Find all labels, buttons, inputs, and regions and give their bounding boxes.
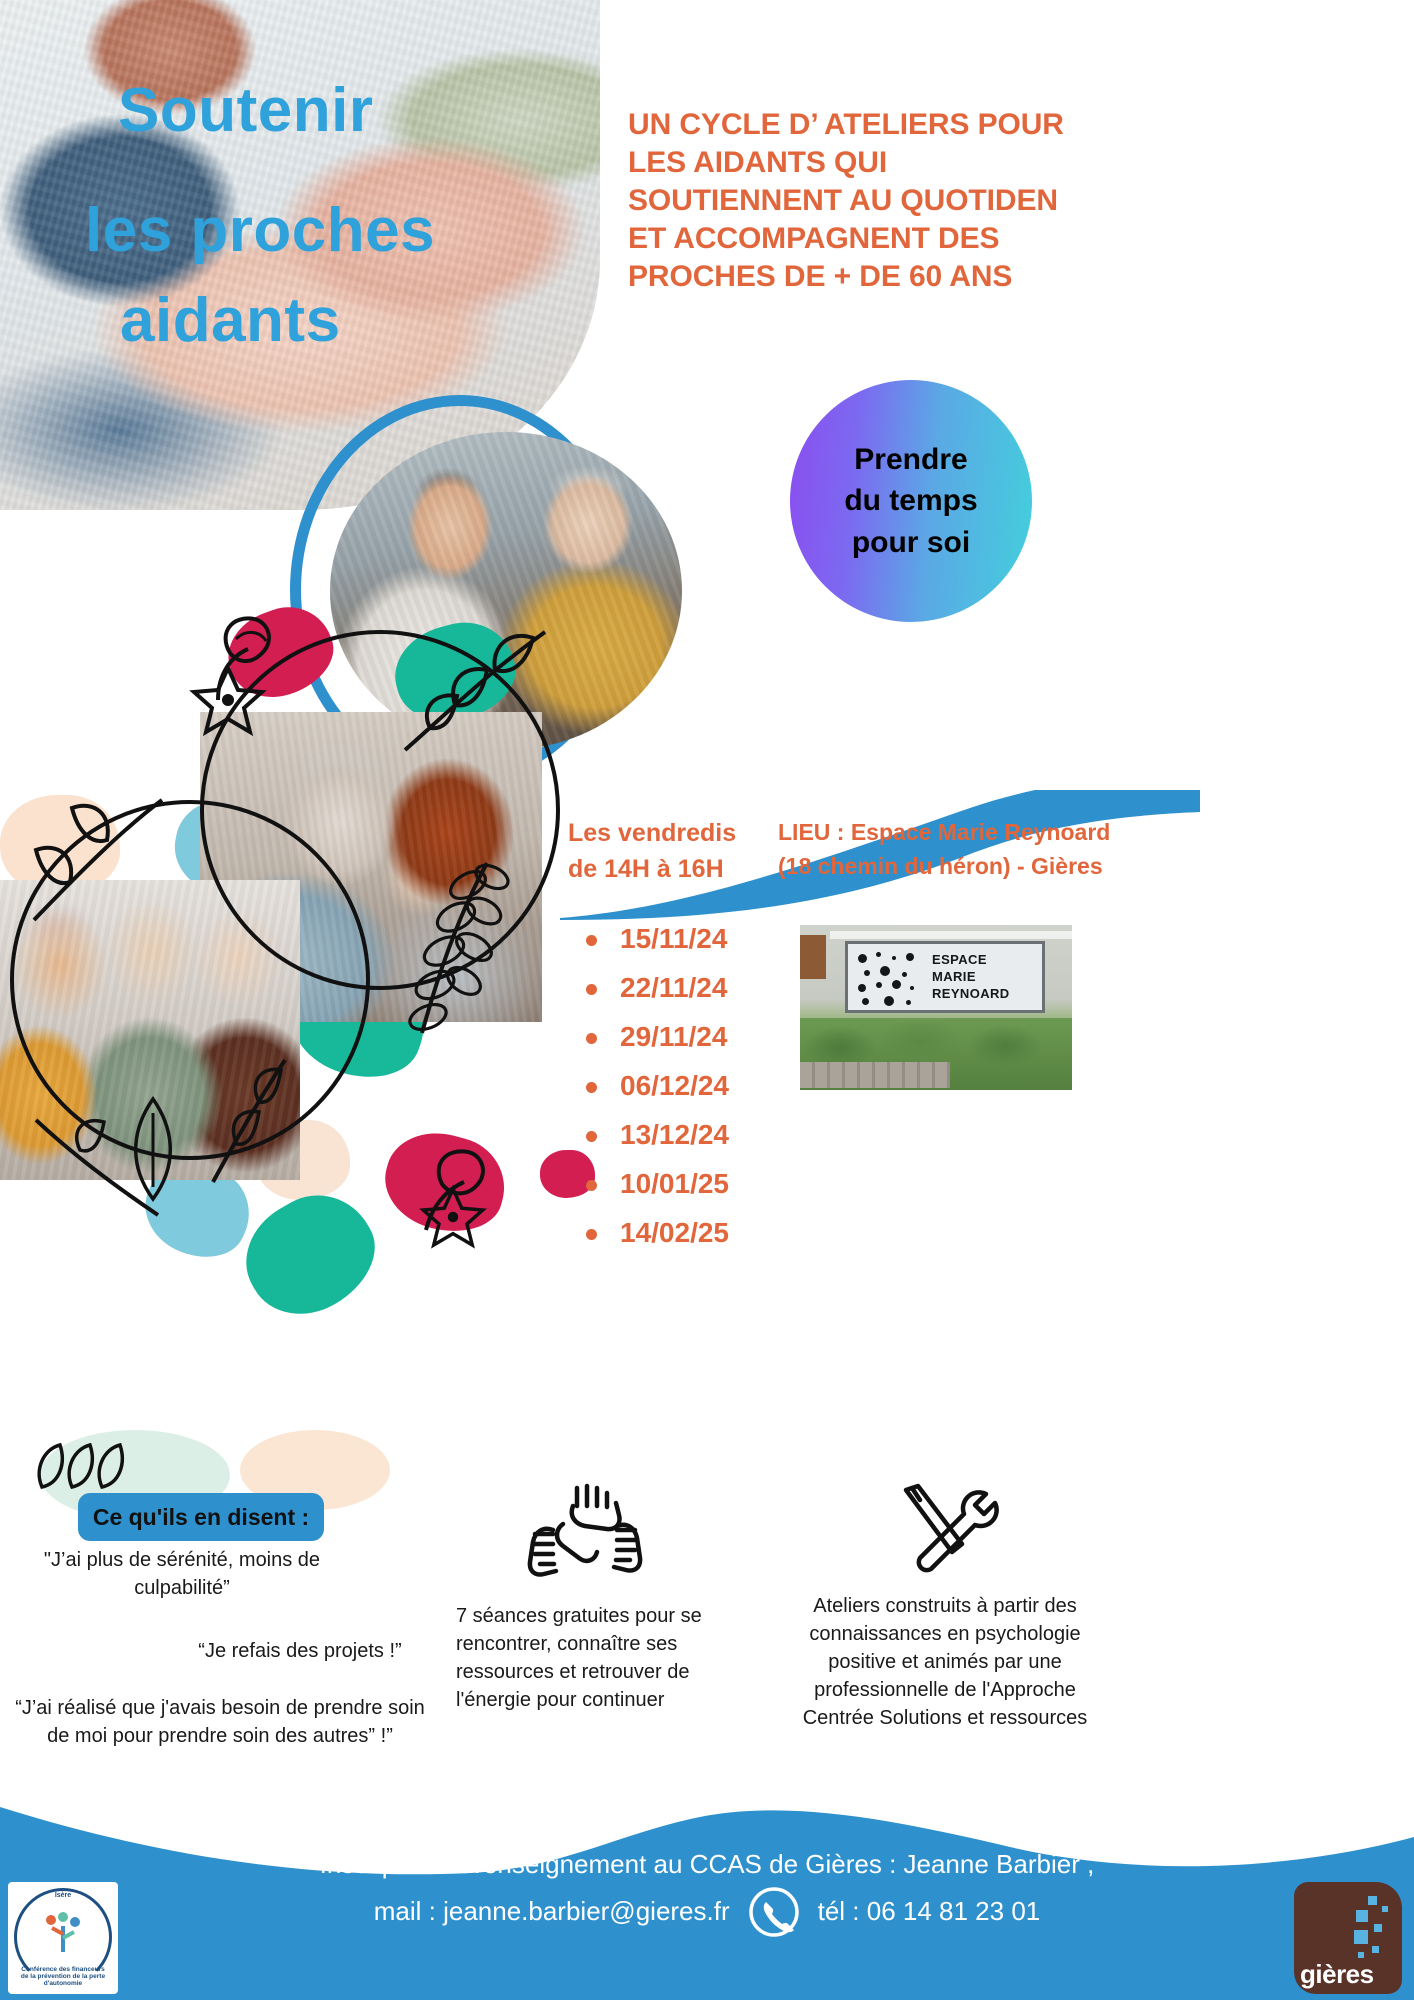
sign-line-2: MARIE xyxy=(932,968,1010,985)
headline-line-4: ET ACCOMPAGNENT DES xyxy=(628,220,1098,258)
footer-line-1: Inscription et renseignement au CCAS de … xyxy=(0,1844,1414,1886)
testimonial-quote-3: “J’ai réalisé que j'avais besoin de pren… xyxy=(10,1695,430,1750)
logo-left-top-label: Isère xyxy=(8,1892,118,1899)
seed-pods-icon xyxy=(30,1435,150,1495)
badge-line-2: du temps xyxy=(844,480,977,521)
feature-workshops-text: Ateliers construits à partir des connais… xyxy=(790,1592,1100,1732)
footer-contact: Inscription et renseignement au CCAS de … xyxy=(0,1844,1414,1938)
laurel-branch-icon xyxy=(392,855,512,1040)
testimonials-badge-label: Ce qu'ils en disent : xyxy=(93,1504,309,1531)
phone-icon xyxy=(748,1886,800,1938)
sign-line-3: REYNOARD xyxy=(932,985,1010,1002)
roof-shape xyxy=(830,931,1072,939)
testimonials-badge: Ce qu'ils en disent : xyxy=(78,1493,324,1541)
prendre-du-temps-badge: Prendre du temps pour soi xyxy=(790,380,1032,622)
footer-mail[interactable]: mail : jeanne.barbier@gieres.fr xyxy=(374,1891,730,1933)
logo-conference-financeurs: Isère Conférence des financeurs de la pr… xyxy=(8,1882,118,1994)
logo-gieres: gières xyxy=(1294,1882,1402,1994)
dates-list: 15/11/24 22/11/24 29/11/24 06/12/24 13/1… xyxy=(582,925,812,1268)
badge-line-3: pour soi xyxy=(852,522,970,563)
schedule-heading: Les vendredis de 14H à 16H xyxy=(568,815,768,888)
list-item: 22/11/24 xyxy=(582,974,812,1002)
headline: UN CYCLE D’ ATELIERS POUR LES AIDANTS QU… xyxy=(628,106,1098,296)
logo-square xyxy=(1354,1930,1368,1944)
leaf-blob-teal xyxy=(226,1175,394,1335)
star-flower-icon xyxy=(418,1182,488,1252)
logo-left-emblem xyxy=(41,1912,85,1958)
sign-text: ESPACE MARIE REYNOARD xyxy=(932,951,1010,1002)
logo-square xyxy=(1358,1952,1364,1958)
logo-gieres-name: gières xyxy=(1300,1959,1374,1990)
sign-line-1: ESPACE xyxy=(932,951,1010,968)
logo-square xyxy=(1374,1924,1382,1932)
leaf-drop-icon xyxy=(118,1095,188,1205)
stone-wall-shape xyxy=(800,1062,950,1088)
location-info: LIEU : Espace Marie Reynoard (18 chemin … xyxy=(778,815,1178,883)
schedule-day: Les vendredis xyxy=(568,815,768,851)
logo-square xyxy=(1382,1906,1388,1912)
location-line-2: (18 chemin du héron) - Gières xyxy=(778,849,1178,883)
logo-left-bottom-label: Conférence des financeurs de la préventi… xyxy=(8,1966,118,1987)
venue-sign: ESPACE MARIE REYNOARD xyxy=(845,941,1045,1013)
schedule-hours: de 14H à 16H xyxy=(568,851,768,887)
feature-workshops: Ateliers construits à partir des connais… xyxy=(790,1470,1100,1732)
list-item: 29/11/24 xyxy=(582,1023,812,1051)
leaf-branch-icon xyxy=(12,790,172,930)
logo-square xyxy=(1356,1910,1368,1922)
testimonial-quote-2: “Je refais des projets !” xyxy=(180,1638,420,1666)
feature-sessions: 7 séances gratuites pour se rencontrer, … xyxy=(440,1480,730,1714)
headline-line-1: UN CYCLE D’ ATELIERS POUR xyxy=(628,106,1098,144)
testimonial-quote-1: "J’ai plus de sérénité, moins de culpabi… xyxy=(22,1547,342,1602)
logo-left-bottom-line-2: de la prévention de la perte d'autonomie xyxy=(8,1973,118,1987)
leaf-branch-icon xyxy=(395,620,565,760)
footer-line-2: mail : jeanne.barbier@gieres.fr tél : 06… xyxy=(0,1886,1414,1938)
sign-dots-decoration xyxy=(854,950,932,1010)
list-item: 06/12/24 xyxy=(582,1072,812,1100)
leaf-sprig-icon xyxy=(175,1050,305,1190)
three-hands-icon xyxy=(440,1480,730,1590)
logo-left-bottom-line-1: Conférence des financeurs xyxy=(8,1966,118,1973)
headline-line-5: PROCHES DE + DE 60 ANS xyxy=(628,258,1098,296)
list-item: 13/12/24 xyxy=(582,1121,812,1149)
tools-icon xyxy=(790,1470,1100,1580)
wood-panel-shape xyxy=(800,935,826,979)
headline-line-2: LES AIDANTS QUI xyxy=(628,144,1098,182)
feature-sessions-text: 7 séances gratuites pour se rencontrer, … xyxy=(440,1602,730,1714)
logo-square xyxy=(1372,1946,1379,1953)
badge-line-1: Prendre xyxy=(854,439,967,480)
logo-square xyxy=(1368,1896,1377,1905)
footer-tel: tél : 06 14 81 23 01 xyxy=(818,1891,1041,1933)
photo-espace-marie-reynoard: ESPACE MARIE REYNOARD xyxy=(800,925,1072,1090)
list-item: 14/02/25 xyxy=(582,1219,812,1247)
star-flower-icon xyxy=(188,660,268,740)
headline-line-3: SOUTIENNENT AU QUOTIDEN xyxy=(628,182,1098,220)
poster: Soutenir les proches aidants UN CYCLE D’… xyxy=(0,0,1414,2000)
location-line-1: LIEU : Espace Marie Reynoard xyxy=(778,815,1178,849)
list-item: 15/11/24 xyxy=(582,925,812,953)
list-item: 10/01/25 xyxy=(582,1170,812,1198)
